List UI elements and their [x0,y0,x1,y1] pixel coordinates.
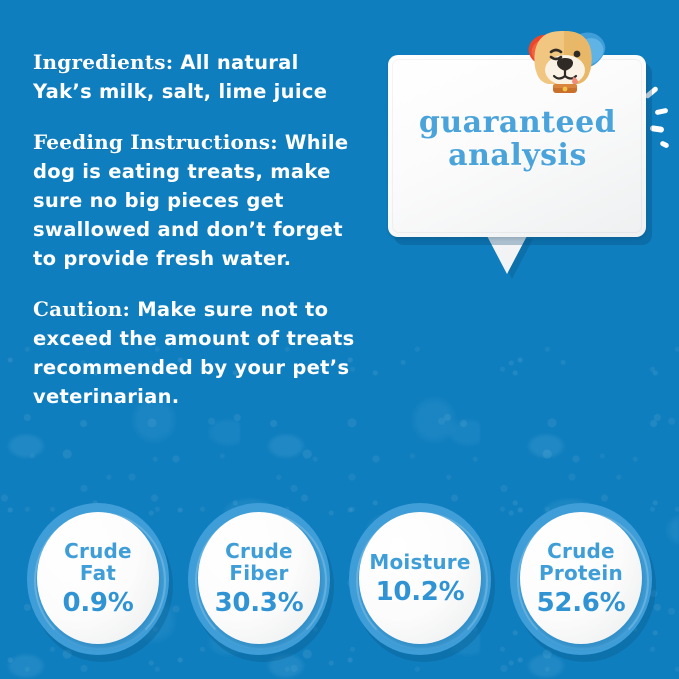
stat-label: Crude Protein [539,540,623,584]
stat-label: Crude Fat [64,540,132,584]
ingredients-heading: Ingredients: [33,50,173,74]
stat-circle-crude-fiber: Crude Fiber 30.3% [185,500,333,658]
stat-disc: Moisture 10.2% [359,512,481,644]
sparkle-line [655,108,669,116]
stat-label: Crude Fiber [225,540,293,584]
stat-label-line2: Fat [64,562,132,584]
caution-block: Caution: Make sure not to exceed the amo… [33,295,363,411]
ingredients-block: Ingredients: All natural Yak’s milk, sal… [33,48,363,106]
stat-label-line1: Crude [225,540,293,562]
stat-value: 30.3% [215,589,304,617]
callout-tail [486,234,528,274]
guaranteed-analysis-callout: guaranteed analysis [380,48,655,288]
stat-circle-crude-fat: Crude Fat 0.9% [24,500,172,658]
sparkle-line [644,86,659,99]
caution-paragraph: Caution: Make sure not to exceed the amo… [33,295,363,411]
callout-title-line1: guaranteed [380,106,655,139]
ingredients-paragraph: Ingredients: All natural Yak’s milk, sal… [33,48,363,106]
stat-value: 0.9% [63,589,134,617]
callout-title: guaranteed analysis [380,106,655,172]
guaranteed-analysis-stats: Crude Fat 0.9% Crude Fiber 30.3% [0,500,679,668]
stat-label-line1: Crude [64,540,132,562]
callout-title-line2: analysis [380,139,655,172]
stat-value: 10.2% [376,578,465,606]
dog-mascot-icon [513,28,617,94]
stat-disc: Crude Fat 0.9% [37,512,159,644]
stat-circle-moisture: Moisture 10.2% [346,500,494,658]
stat-label-line1: Crude [539,540,623,562]
stat-value: 52.6% [537,589,626,617]
sparkle-line [659,140,669,148]
stat-label-line2: Fiber [225,562,293,584]
stat-disc: Crude Protein 52.6% [520,512,642,644]
stat-label-line2: Protein [539,562,623,584]
stat-circle-crude-protein: Crude Protein 52.6% [507,500,655,658]
feeding-heading: Feeding Instructions: [33,130,278,154]
caution-heading: Caution: [33,297,130,321]
feeding-instructions-block: Feeding Instructions: While dog is eatin… [33,128,363,273]
product-label-panel: Ingredients: All natural Yak’s milk, sal… [0,0,679,679]
stat-label-line1: Moisture [369,551,470,573]
label-text-column: Ingredients: All natural Yak’s milk, sal… [33,48,363,411]
stat-disc: Crude Fiber 30.3% [198,512,320,644]
stat-label: Moisture [369,551,470,573]
feeding-paragraph: Feeding Instructions: While dog is eatin… [33,128,363,273]
